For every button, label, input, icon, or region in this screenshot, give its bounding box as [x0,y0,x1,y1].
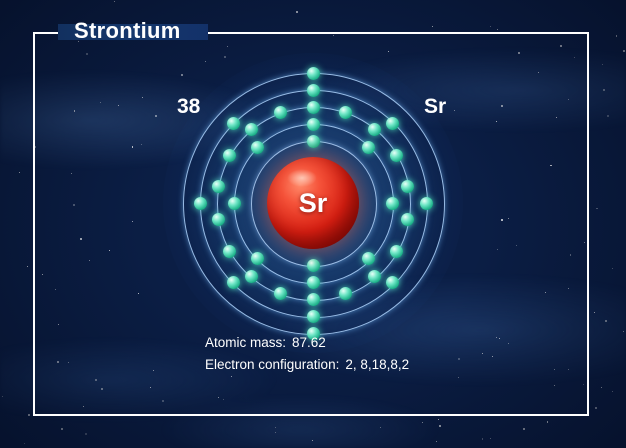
nucleus-symbol-label: Sr [267,157,359,249]
element-symbol-label: Sr [424,95,446,119]
atomic-mass-label: Atomic mass: [205,335,286,350]
atomic-mass-row: Atomic mass:87.62 [205,332,409,354]
electron-configuration-label: Electron configuration: [205,357,339,372]
electron-configuration-value: 2, 8,18,8,2 [345,357,409,372]
atomic-mass-value: 87.62 [292,335,326,350]
electron-configuration-row: Electron configuration:2, 8,18,8,2 [205,354,409,376]
element-info-block: Atomic mass:87.62 Electron configuration… [205,332,409,376]
page-title: Strontium [66,18,191,44]
atom-diagram-canvas: Strontium Sr 38 Sr Atomic mass:87.62 Ele… [0,0,626,448]
atomic-number-label: 38 [177,95,200,119]
electron [307,67,320,80]
